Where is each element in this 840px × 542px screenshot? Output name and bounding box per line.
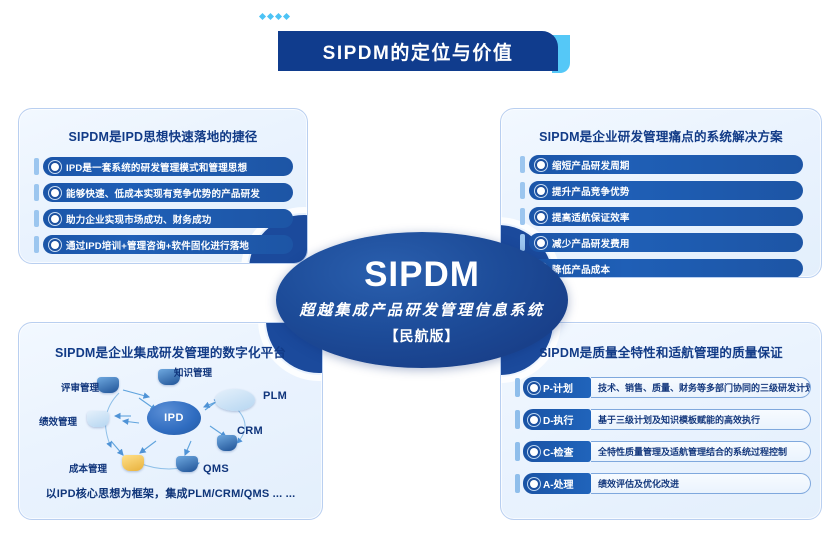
list-item[interactable]: 能够快速、低成本实现有竞争优势的产品研发: [43, 183, 293, 202]
title-banner: SIPDM的定位与价值: [278, 31, 570, 73]
pdca-body-text: 技术、销售、质量、财务等多部门协同的三级研发计划: [598, 381, 811, 394]
pdca-body-text: 基于三级计划及知识模板赋能的高效执行: [598, 413, 760, 426]
list-item-label: 提升产品竞争优势: [552, 184, 630, 198]
node-label-knowledge-mgmt: 知识管理: [174, 365, 212, 379]
list-item-label: IPD是一套系统的研发管理模式和管理思想: [66, 160, 247, 174]
node-performance-mgmt-icon: [87, 411, 109, 427]
pill-tab-icon: [34, 236, 39, 253]
pdca-body-cell: 全特性质量管理及适航管理结合的系统过程控制: [591, 441, 811, 462]
bullet-dot-icon: [537, 187, 545, 195]
pill-tab-icon: [520, 182, 525, 199]
pill[interactable]: 缩短产品研发周期: [529, 155, 803, 174]
bullet-dot-icon: [51, 215, 59, 223]
panel-title-bottom-right: SIPDM是质量全特性和适航管理的质量保证: [501, 342, 821, 361]
pill-tab-icon: [515, 378, 520, 397]
node-label-cost-mgmt: 成本管理: [69, 461, 107, 475]
panel-title-top-left: SIPDM是IPD思想快速落地的捷径: [19, 126, 307, 145]
node-label-performance-mgmt: 绩效管理: [39, 414, 77, 428]
node-label-plm: PLM: [263, 390, 287, 402]
bullet-dot-icon: [537, 213, 545, 221]
node-plm-icon: [215, 389, 255, 411]
node-label-crm: CRM: [237, 425, 263, 437]
pill[interactable]: IPD是一套系统的研发管理模式和管理思想: [43, 157, 293, 176]
list-item[interactable]: 提升产品竞争优势: [529, 181, 803, 200]
list-item-label: 能够快速、低成本实现有竞争优势的产品研发: [66, 186, 260, 200]
list-item-label: 提高适航保证效率: [552, 210, 630, 224]
pdca-body-text: 绩效评估及优化改进: [598, 477, 679, 490]
node-label-review-mgmt: 评审管理: [61, 380, 99, 394]
bullet-list-top-right: 缩短产品研发周期 提升产品竞争优势 提高适航保证效率: [501, 155, 821, 278]
pill-tab-icon: [515, 410, 520, 429]
pill[interactable]: 通过IPD培训+管理咨询+软件固化进行落地: [43, 235, 293, 254]
pill[interactable]: 能够快速、低成本实现有竞争优势的产品研发: [43, 183, 293, 202]
pdca-label-text: C-检查: [543, 444, 574, 459]
panel-quality-assurance: SIPDM是质量全特性和适航管理的质量保证 P-计划 技术、销售、质量、财务等多…: [500, 322, 822, 520]
pill[interactable]: 降低产品成本: [529, 259, 803, 278]
panel-pain-point-solution: SIPDM是企业研发管理痛点的系统解决方案 缩短产品研发周期 提升产品竞争优势: [500, 108, 822, 278]
pill-tab-icon: [34, 184, 39, 201]
hub-node-ipd: IPD: [147, 401, 201, 435]
panel-title-top-right: SIPDM是企业研发管理痛点的系统解决方案: [501, 126, 821, 145]
page-title: SIPDM的定位与价值: [323, 38, 514, 65]
bullet-dot-icon: [51, 241, 59, 249]
decorative-dots: [260, 14, 289, 19]
panel-title-bottom-left: SIPDM是企业集成研发管理的数字化平台: [19, 342, 322, 361]
ipd-hub-diagram: IPD 知识管理 PLM CRM QMS 成本管理 绩效管理 评审管理: [19, 363, 322, 483]
node-qms-icon: [176, 456, 198, 472]
list-item[interactable]: IPD是一套系统的研发管理模式和管理思想: [43, 157, 293, 176]
pill-tab-icon: [34, 158, 39, 175]
banner-body: SIPDM的定位与价值: [278, 31, 558, 71]
list-item-label: 助力企业实现市场成功、财务成功: [66, 212, 212, 226]
diamond-dot-icon: [267, 13, 274, 20]
list-item[interactable]: 降低产品成本: [529, 259, 803, 278]
brand-name: SIPDM: [364, 257, 480, 292]
pdca-label-cell[interactable]: C-检查: [523, 441, 591, 462]
pill-tab-icon: [520, 234, 525, 251]
table-row[interactable]: P-计划 技术、销售、质量、财务等多部门协同的三级研发计划: [523, 377, 811, 398]
table-row[interactable]: A-处理 绩效评估及优化改进: [523, 473, 811, 494]
node-crm-icon: [217, 435, 237, 451]
pdca-label-text: D-执行: [543, 412, 574, 427]
list-item-label: 降低产品成本: [552, 262, 610, 276]
pdca-body-cell: 技术、销售、质量、财务等多部门协同的三级研发计划: [591, 377, 811, 398]
pill[interactable]: 提高适航保证效率: [529, 207, 803, 226]
pill[interactable]: 提升产品竞争优势: [529, 181, 803, 200]
pdca-label-cell[interactable]: P-计划: [523, 377, 591, 398]
pill-tab-icon: [520, 156, 525, 173]
brand-edition: 【民航版】: [385, 326, 460, 346]
bullet-dot-icon: [530, 416, 538, 424]
pill[interactable]: 助力企业实现市场成功、财务成功: [43, 209, 293, 228]
pdca-label-cell[interactable]: A-处理: [523, 473, 591, 494]
pdca-label-text: A-处理: [543, 476, 574, 491]
pdca-label-cell[interactable]: D-执行: [523, 409, 591, 430]
pdca-body-cell: 绩效评估及优化改进: [591, 473, 811, 494]
list-item[interactable]: 通过IPD培训+管理咨询+软件固化进行落地: [43, 235, 293, 254]
pdca-body-text: 全特性质量管理及适航管理结合的系统过程控制: [598, 445, 787, 458]
list-item[interactable]: 提高适航保证效率: [529, 207, 803, 226]
pill[interactable]: 减少产品研发费用: [529, 233, 803, 252]
pdca-label-text: P-计划: [543, 380, 573, 395]
slide-canvas: SIPDM的定位与价值 SIPDM是IPD思想快速落地的捷径 IPD是一套系统的…: [0, 0, 840, 542]
brand-tagline: 超越集成产品研发管理信息系统: [299, 299, 544, 320]
list-item[interactable]: 减少产品研发费用: [529, 233, 803, 252]
pill-tab-icon: [520, 208, 525, 225]
diamond-dot-icon: [275, 13, 282, 20]
list-item-label: 缩短产品研发周期: [552, 158, 630, 172]
bullet-dot-icon: [51, 189, 59, 197]
pill-tab-icon: [34, 210, 39, 227]
list-item-label: 减少产品研发费用: [552, 236, 630, 250]
list-item[interactable]: 缩短产品研发周期: [529, 155, 803, 174]
bullet-dot-icon: [530, 480, 538, 488]
diamond-dot-icon: [283, 13, 290, 20]
list-item-label: 通过IPD培训+管理咨询+软件固化进行落地: [66, 238, 249, 252]
bullet-dot-icon: [51, 163, 59, 171]
diamond-dot-icon: [259, 13, 266, 20]
table-row[interactable]: D-执行 基于三级计划及知识模板赋能的高效执行: [523, 409, 811, 430]
node-label-qms: QMS: [203, 463, 229, 475]
bullet-dot-icon: [530, 384, 538, 392]
list-item[interactable]: 助力企业实现市场成功、财务成功: [43, 209, 293, 228]
pill-tab-icon: [515, 474, 520, 493]
pill-tab-icon: [515, 442, 520, 461]
diagram-caption: 以IPD核心思想为框架，集成PLM/CRM/QMS ... ...: [19, 485, 322, 501]
table-row[interactable]: C-检查 全特性质量管理及适航管理结合的系统过程控制: [523, 441, 811, 462]
node-cost-mgmt-icon: [122, 455, 144, 471]
bullet-list-top-left: IPD是一套系统的研发管理模式和管理思想 能够快速、低成本实现有竞争优势的产品研…: [19, 157, 307, 254]
node-review-mgmt-icon: [97, 377, 119, 393]
center-brand-ellipse: SIPDM 超越集成产品研发管理信息系统 【民航版】: [276, 232, 568, 368]
bullet-dot-icon: [537, 161, 545, 169]
bullet-dot-icon: [530, 448, 538, 456]
bullet-dot-icon: [537, 239, 545, 247]
panel-ipd-shortcut: SIPDM是IPD思想快速落地的捷径 IPD是一套系统的研发管理模式和管理思想 …: [18, 108, 308, 264]
panel-digital-platform: SIPDM是企业集成研发管理的数字化平台: [18, 322, 323, 520]
pdca-list: P-计划 技术、销售、质量、财务等多部门协同的三级研发计划 D-执行 基于三级计…: [501, 377, 821, 494]
pdca-body-cell: 基于三级计划及知识模板赋能的高效执行: [591, 409, 811, 430]
